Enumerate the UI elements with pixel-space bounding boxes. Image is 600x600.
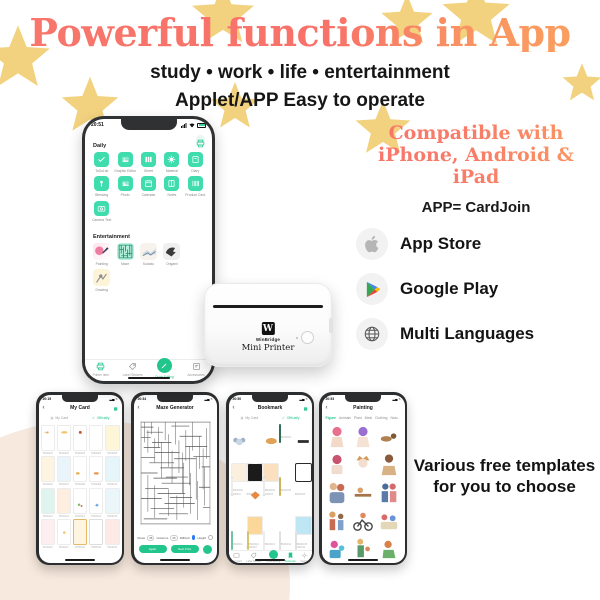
status-time: 20:53 <box>326 397 335 401</box>
globe-icon <box>356 318 388 350</box>
app-name-label: APP= CardJoin <box>352 199 600 216</box>
user-icon: ◍ <box>50 416 53 420</box>
list-item[interactable]: BM00007 <box>247 478 262 530</box>
tab-my-card[interactable]: ◍My Card <box>39 414 81 423</box>
tab-label-stickers[interactable]: Label Stickers <box>117 362 147 377</box>
apple-icon <box>356 228 388 260</box>
my-card-screen: 20:19 ▂▄ ⌁ ‹ My Card ▦ ◍My Card ✓Officia… <box>39 395 122 563</box>
painting-screen: 20:53 ▂▄ ⌁ ‹ Painting Figure Animals Pla… <box>322 395 405 563</box>
home-indicator <box>255 559 285 561</box>
compatibility-panel: Compatible with iPhone, Android & iPad A… <box>352 122 600 363</box>
side-button[interactable] <box>329 318 333 333</box>
card-caption: PD00002 <box>59 452 69 455</box>
bookmark-caption: BM00009 <box>281 489 291 492</box>
card-caption: PD00019 <box>91 546 101 549</box>
list-item[interactable]: PD00012 <box>57 488 72 518</box>
app-tile-sudoku[interactable]: Sudoku <box>137 243 160 266</box>
card-thumbnail <box>57 425 72 451</box>
app-tile-origami[interactable]: Origami <box>160 243 183 266</box>
card-thumbnail <box>105 456 120 482</box>
chevron-left-icon[interactable]: ‹ <box>326 405 328 411</box>
card-thumbnail <box>41 519 56 545</box>
status-icons: ▂▄ ⌁ <box>300 397 308 401</box>
label-icon <box>128 362 137 371</box>
sticker-girl-purple-hair[interactable] <box>351 424 375 450</box>
card-thumbnail <box>89 456 104 482</box>
check-icon: ✓ <box>282 416 285 420</box>
subtitle-categories: study • work • life • entertainment <box>0 62 600 84</box>
status-time: 20:19 <box>43 397 52 401</box>
phone-notch <box>121 119 177 130</box>
tab-officially[interactable]: ✓Officially <box>80 414 122 423</box>
bookmark-thumbnail <box>263 463 280 482</box>
app-tile-label: Painting <box>96 262 108 266</box>
app-grid-entertainment: Painting Maze Sudoku <box>85 243 212 293</box>
list-item[interactable]: BM00003 <box>263 425 278 477</box>
tab-accessories[interactable]: Accessories <box>181 362 211 377</box>
sudoku-icon <box>140 243 157 260</box>
tab-label: My Card <box>55 416 68 420</box>
card-thumbnail <box>89 488 104 514</box>
phone-painting: 20:53 ▂▄ ⌁ ‹ Painting Figure Animals Pla… <box>319 392 407 565</box>
list-item[interactable]: PD00009 <box>89 456 104 486</box>
app-tile-notes[interactable]: Notes <box>160 176 183 197</box>
bookmark-thumbnail <box>263 531 265 550</box>
check-icon: ✓ <box>92 416 95 420</box>
bookmark-thumbnail <box>295 531 297 550</box>
card-caption: PD00012 <box>59 515 69 518</box>
bookmark-caption: BM00011 <box>233 543 243 546</box>
photo-icon <box>118 176 133 191</box>
tab-printer-item[interactable]: Printer Item <box>86 362 116 377</box>
drawing-icon <box>93 269 110 286</box>
card-thumbnail <box>73 425 88 451</box>
list-item[interactable]: BM00002 <box>247 425 262 477</box>
difficult-toggle[interactable] <box>192 535 196 540</box>
card-caption: PD00017 <box>59 546 69 549</box>
print-fab-icon[interactable] <box>203 545 212 554</box>
app-tile-label: Calendar <box>142 193 156 197</box>
phone-notch <box>157 395 193 402</box>
platform-label: App Store <box>400 234 481 254</box>
bookmark-screen: 20:50 ▂▄ ⌁ ‹ Bookmark ▦ ◍My Card ✓Offici… <box>229 395 312 563</box>
printer-model-label: Mini Printer <box>205 343 331 353</box>
sticker-picnic-group[interactable] <box>377 508 401 534</box>
battery-icon <box>197 123 206 128</box>
bookmark-thumbnail <box>279 477 281 496</box>
pen-fab-icon <box>157 358 172 373</box>
card-thumbnail <box>105 425 120 451</box>
bookmark-caption: BM00008 <box>265 489 275 492</box>
app-tile-graphic-editor[interactable]: Graphic Editor <box>113 152 136 173</box>
platform-multi-languages[interactable]: Multi Languages <box>356 318 600 350</box>
card-thumbnail <box>73 488 88 514</box>
bookmark-caption: BM00012 <box>249 543 259 546</box>
list-item[interactable]: PD00011 <box>41 488 56 518</box>
platform-label: Google Play <box>400 279 498 299</box>
mini-printer-device: W WinBridge Mini Printer <box>204 283 332 367</box>
card-caption: PD00001 <box>43 452 53 455</box>
list-item[interactable]: PD00017 <box>57 519 72 549</box>
tab-animals[interactable]: Animals <box>339 416 351 420</box>
paper-slot <box>213 305 323 308</box>
subtitle-applet: Applet/APP Easy to operate <box>0 90 600 112</box>
nav-bar: ‹ Maze Generator <box>134 403 217 414</box>
list-item[interactable]: PD00008 <box>73 456 88 486</box>
blessing-icon <box>94 176 109 191</box>
maze-controls: Rows 35 Columns 25 Difficult Height <box>134 530 217 541</box>
brand-logo: W WinBridge <box>256 322 280 342</box>
accessories-icon <box>192 362 201 371</box>
barcode-icon <box>188 176 203 191</box>
columns-input[interactable]: 25 <box>170 535 177 541</box>
grid-icon[interactable]: ▦ <box>304 406 308 411</box>
material-icon <box>164 152 179 167</box>
tab-nature[interactable]: Natu <box>390 416 397 420</box>
checklist-icon <box>94 152 109 167</box>
tab-label: Printer Item <box>93 373 109 377</box>
app-tile-sheet[interactable]: Sheet <box>137 152 160 173</box>
list-item[interactable]: PD00014 <box>89 488 104 518</box>
power-button[interactable] <box>301 331 314 344</box>
status-time: 20:34 <box>138 397 147 401</box>
bookmark-thumbnail <box>247 531 249 550</box>
printer-tab-icon <box>96 362 105 371</box>
sticker-girl-skirt[interactable] <box>377 452 401 478</box>
maze-canvas-wrap <box>134 414 217 530</box>
status-led <box>296 337 298 339</box>
app-tile-diary[interactable]: Diary <box>184 152 207 173</box>
sticker-two-people-talk[interactable] <box>377 480 401 506</box>
bookmark-caption: BM00014 <box>281 543 291 546</box>
bookmark-caption: BM00013 <box>265 543 275 546</box>
app-tile-label: Camera Text <box>92 218 111 222</box>
status-icons <box>181 123 206 128</box>
chevron-left-icon[interactable]: ‹ <box>138 405 140 411</box>
nav-quick-editing[interactable]: Quick Editing <box>266 552 280 563</box>
bookmark-template-grid: BM00001 BM00002 BM00003 BM00004 BM00005 … <box>229 423 312 552</box>
compat-line-2: iPhone, Android & iPad <box>352 144 600 188</box>
tab-label: Officially <box>287 416 300 420</box>
again-button[interactable]: Again <box>139 545 167 553</box>
card-thumbnail <box>41 488 56 514</box>
card-caption: PD00018 <box>75 546 85 549</box>
app-tile-label: Maze <box>121 262 129 266</box>
height-label: Height <box>197 536 206 540</box>
app-tile-photo[interactable]: Photo <box>113 176 136 197</box>
list-item[interactable]: PD00010 <box>105 456 120 486</box>
card-thumbnail <box>57 519 72 545</box>
list-item[interactable]: PD00013 <box>73 488 88 518</box>
card-thumbnail <box>41 456 56 482</box>
maze-icon <box>117 243 134 260</box>
list-item[interactable]: PD00015 <box>105 488 120 518</box>
phone-my-card: 20:19 ▂▄ ⌁ ‹ My Card ▦ ◍My Card ✓Officia… <box>36 392 124 565</box>
home-indicator <box>128 377 170 379</box>
pen-fab-icon <box>269 550 278 559</box>
list-item[interactable]: PD00007 <box>57 456 72 486</box>
phone-bookmark: 20:50 ▂▄ ⌁ ‹ Bookmark ▦ ◍My Card ✓Offici… <box>226 392 314 565</box>
maze-actions: Again Next Print <box>134 541 217 554</box>
sticker-couple-hug[interactable] <box>325 480 349 506</box>
main-phone-screen: 20:51 Daily ToDoList Graphic Edito <box>85 119 212 381</box>
list-item[interactable]: BM00009 <box>279 478 294 530</box>
rows-input[interactable]: 35 <box>147 535 154 541</box>
list-item[interactable]: BM00013 <box>263 532 278 550</box>
sticker-grid <box>322 422 405 563</box>
tagline-line-2: for you to choose <box>412 476 597 497</box>
phone-maze-generator: 20:34 ▂▄ ⌁ ‹ Maze Generator <box>131 392 219 565</box>
screen-title: Maze Generator <box>156 405 194 411</box>
tab-meal[interactable]: Meal <box>365 416 372 420</box>
list-item[interactable]: PD00002 <box>57 425 72 455</box>
status-time: 20:51 <box>91 122 104 128</box>
card-thumbnail <box>89 425 104 451</box>
app-tile-label: Notes <box>167 193 176 197</box>
app-tile-material[interactable]: Material <box>160 152 183 173</box>
maze-canvas[interactable] <box>140 421 211 525</box>
app-tile-label: Product Card <box>185 193 205 197</box>
section-title-entertainment: Entertainment <box>85 222 212 243</box>
difficult-label: Difficult <box>180 536 190 540</box>
app-tile-todolist[interactable]: ToDoList <box>90 152 113 173</box>
app-tile-camera-text[interactable]: Camera Text <box>90 201 113 222</box>
painting-category-tabs: Figure Animals Plant Meal Clothing Natu <box>322 414 405 422</box>
card-source-tabs: ◍My Card ✓Officially <box>39 414 122 423</box>
platform-label: Multi Languages <box>400 324 534 344</box>
sticker-girl-pink-hair[interactable] <box>325 424 349 450</box>
nav-bar: ‹ Bookmark ▦ <box>229 403 312 414</box>
section-title-daily: Daily <box>85 131 212 152</box>
nav-bookmark[interactable]: Bookmark <box>285 552 296 563</box>
home-indicator <box>160 559 190 561</box>
app-tile-drawing[interactable]: Drawing <box>90 269 113 292</box>
card-caption: PD00010 <box>107 483 117 486</box>
signal-icon <box>181 123 187 128</box>
phone-notch <box>62 395 98 402</box>
app-tile-blessing[interactable]: Blessing <box>90 176 113 197</box>
bookmark-thumbnail <box>231 477 233 496</box>
nav-label: Settings <box>300 560 309 563</box>
app-grid-daily: ToDoList Graphic Editor Sheet Material D… <box>85 152 212 222</box>
chevron-left-icon[interactable]: ‹ <box>43 405 45 411</box>
user-icon: ◍ <box>240 416 243 420</box>
main-phone-mockup: 20:51 Daily ToDoList Graphic Edito <box>82 116 215 384</box>
nav-print-card[interactable]: Print Card <box>231 552 242 563</box>
origami-icon <box>163 243 180 260</box>
gear-icon <box>301 552 308 559</box>
tab-clothing[interactable]: Clothing <box>375 416 387 420</box>
status-time: 20:50 <box>233 397 242 401</box>
bookmark-caption: BM00006 <box>233 489 243 492</box>
columns-label: Columns <box>156 536 168 540</box>
list-item[interactable]: PD00005 <box>105 425 120 455</box>
bookmark-thumbnail <box>295 516 312 535</box>
compat-line-1: Compatible with <box>352 122 600 144</box>
card-thumbnail <box>105 519 120 545</box>
app-tile-label: Sheet <box>144 169 153 173</box>
list-item[interactable]: BM00001 <box>231 425 246 477</box>
brand-badge-icon: W <box>261 322 274 335</box>
next-print-button[interactable]: Next Print <box>171 545 199 553</box>
page-title: Powerful functions in App <box>0 14 600 52</box>
card-thumbnail <box>57 456 72 482</box>
card-caption: PD00015 <box>107 515 117 518</box>
card-caption: PD00014 <box>91 515 101 518</box>
bookmark-bottom-nav: Print Card Label Stickers Quick Editing … <box>229 550 312 563</box>
list-item[interactable]: BM00010 <box>295 478 310 530</box>
tab-plant[interactable]: Plant <box>354 416 362 420</box>
app-tile-label: Origami <box>166 262 178 266</box>
maze-screen: 20:34 ▂▄ ⌁ ‹ Maze Generator <box>134 395 217 563</box>
card-caption: PD00007 <box>59 483 69 486</box>
promo-stage: Powerful functions in App study • work •… <box>0 0 600 600</box>
list-item[interactable]: PD00020 <box>105 519 120 549</box>
bookmark-thumbnail <box>279 424 281 443</box>
sticker-bench-sitting[interactable] <box>351 480 375 506</box>
notes-icon <box>164 176 179 191</box>
sticker-girl-reading[interactable] <box>325 452 349 478</box>
list-item[interactable]: BM00008 <box>263 478 278 530</box>
nav-settings[interactable]: Settings <box>300 552 309 563</box>
card-caption: PD00003 <box>75 452 85 455</box>
bookmark-caption: BM00004 <box>281 436 291 439</box>
app-tile-label: Material <box>166 169 178 173</box>
phone-notch <box>345 395 381 402</box>
list-item[interactable]: BM00005 <box>295 425 310 477</box>
list-item[interactable]: BM00011 <box>231 532 246 550</box>
nav-bar: ‹ Painting <box>322 403 405 414</box>
nav-bar: ‹ My Card ▦ <box>39 403 122 414</box>
sticker-girl-cat-hood[interactable] <box>351 452 375 478</box>
sticker-dog-walk[interactable] <box>377 424 401 450</box>
status-icons: ▂▄ ⌁ <box>110 397 118 401</box>
app-tile-label: Diary <box>191 169 199 173</box>
card-caption: PD00008 <box>75 483 85 486</box>
status-icons: ▂▄ ⌁ <box>205 397 213 401</box>
bookmark-thumbnail <box>247 516 264 535</box>
compat-heading: Compatible with iPhone, Android & iPad <box>352 122 600 188</box>
app-tile-label: Sudoku <box>143 262 155 266</box>
sheet-icon <box>141 152 156 167</box>
list-item[interactable]: BM00004 <box>279 425 294 477</box>
app-tile-product-card[interactable]: Product Card <box>184 176 207 197</box>
sticker-winter-kids[interactable] <box>325 536 349 562</box>
platform-google-play[interactable]: Google Play <box>356 273 600 305</box>
tab-my-card[interactable]: ◍My Card <box>229 414 271 423</box>
home-indicator <box>348 559 378 561</box>
card-caption: PD00013 <box>75 515 85 518</box>
card-caption: PD00006 <box>43 483 53 486</box>
image-edit-icon <box>118 152 133 167</box>
card-thumbnail <box>41 425 56 451</box>
sticker-cyclists[interactable] <box>351 508 375 534</box>
google-play-icon <box>356 273 388 305</box>
app-tile-calendar[interactable]: Calendar <box>137 176 160 197</box>
phone-notch <box>252 395 288 402</box>
calendar-icon <box>141 176 156 191</box>
screen-title: My Card <box>70 405 90 411</box>
card-thumbnail <box>57 488 72 514</box>
card-icon <box>233 552 240 559</box>
bookmark-thumbnail <box>231 531 233 550</box>
wifi-icon <box>189 123 195 128</box>
brand-name: WinBridge <box>256 337 280 342</box>
status-icons: ▂▄ ⌁ <box>393 397 401 401</box>
list-item[interactable]: PD00001 <box>41 425 56 455</box>
sticker-family-walk[interactable] <box>325 508 349 534</box>
screen-title: Bookmark <box>258 405 282 411</box>
card-thumbnail <box>73 519 88 545</box>
tab-label: My Card <box>245 416 258 420</box>
card-thumbnail <box>89 519 104 545</box>
height-toggle[interactable] <box>208 535 212 540</box>
card-caption: PD00005 <box>107 452 117 455</box>
bookmark-icon <box>287 552 294 559</box>
app-tile-label: Blessing <box>95 193 108 197</box>
list-item[interactable]: PD00019 <box>89 519 104 549</box>
app-tile-label: Drawing <box>95 288 107 292</box>
home-indicator <box>65 559 95 561</box>
camera-text-icon <box>94 201 109 216</box>
app-tile-label: Graphic Editor <box>114 169 136 173</box>
printer-icon[interactable] <box>196 135 205 144</box>
list-item[interactable]: PD00018 <box>73 519 88 549</box>
nav-label: Bookmark <box>285 560 296 563</box>
card-caption: PD00020 <box>107 546 117 549</box>
nav-label: Print Card <box>231 560 242 563</box>
app-tile-label: Photo <box>121 193 130 197</box>
rows-label: Rows <box>138 536 146 540</box>
tagline-line-1: Various free templates <box>412 455 597 476</box>
grid-icon[interactable]: ▦ <box>114 406 118 411</box>
card-caption: PD00004 <box>91 452 101 455</box>
list-item[interactable]: BM00006 <box>231 478 246 530</box>
card-thumbnail <box>73 456 88 482</box>
tab-figure[interactable]: Figure <box>326 416 336 420</box>
card-caption: PD00011 <box>43 515 53 518</box>
sticker-kids-playing[interactable] <box>377 536 401 562</box>
card-caption: PD00016 <box>43 546 53 549</box>
sticker-parent-child[interactable] <box>351 536 375 562</box>
app-tile-painting[interactable]: Painting <box>90 243 113 266</box>
list-item[interactable]: PD00006 <box>41 456 56 486</box>
nav-label-stickers[interactable]: Label Stickers <box>246 552 261 563</box>
platform-app-store[interactable]: App Store <box>356 228 600 260</box>
list-item[interactable]: PD00016 <box>41 519 56 549</box>
painting-icon <box>93 243 110 260</box>
tagline: Various free templates for you to choose <box>412 455 597 498</box>
card-template-grid: PD00001 PD00002 PD00003 PD00004 PD00005 … <box>39 423 122 552</box>
bookmark-thumbnail <box>279 531 281 550</box>
chevron-left-icon[interactable]: ‹ <box>233 405 235 411</box>
app-tile-label: ToDoList <box>95 169 108 173</box>
card-thumbnail <box>105 488 120 514</box>
tab-officially[interactable]: ✓Officially <box>270 414 312 423</box>
card-caption: PD00009 <box>91 483 101 486</box>
list-item[interactable]: PD00004 <box>89 425 104 455</box>
app-tile-maze[interactable]: Maze <box>113 243 136 266</box>
bookmark-thumbnail <box>263 477 265 496</box>
tab-label: Officially <box>97 416 110 420</box>
list-item[interactable]: PD00003 <box>73 425 88 455</box>
screen-title: Painting <box>353 405 373 411</box>
list-item[interactable]: BM00014 <box>279 532 294 550</box>
bookmark-caption: BM00015 <box>297 543 307 546</box>
bookmark-source-tabs: ◍My Card ✓Officially <box>229 414 312 423</box>
tab-label: Accessories <box>188 373 205 377</box>
diary-icon <box>188 152 203 167</box>
